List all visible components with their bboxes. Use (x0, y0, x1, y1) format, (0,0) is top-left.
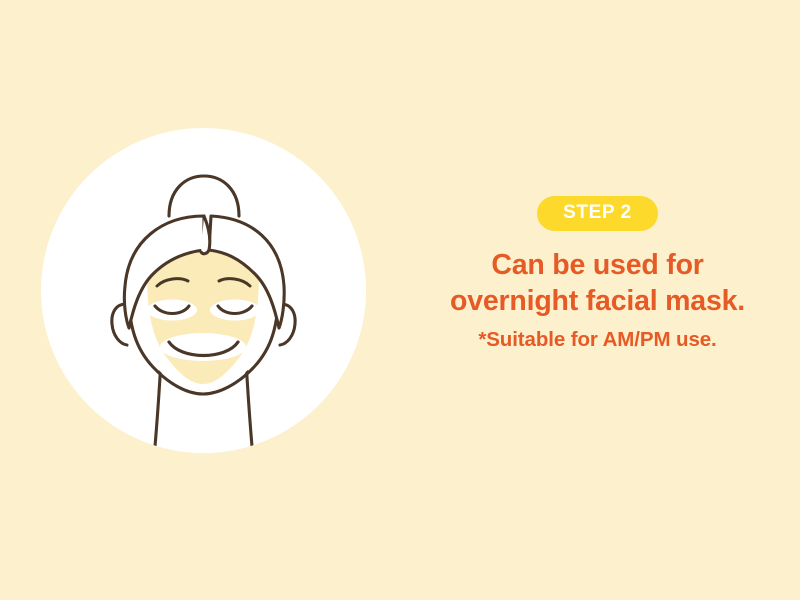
headline-line-1: Can be used for (400, 248, 795, 284)
text-panel: STEP 2 Can be used for overnight facial … (400, 196, 795, 352)
left-eye-halo (147, 300, 197, 321)
headline: Can be used for overnight facial mask. (400, 248, 795, 320)
step-badge: STEP 2 (537, 196, 658, 231)
subline: *Suitable for AM/PM use. (400, 328, 795, 353)
headline-line-2: overnight facial mask. (400, 284, 795, 320)
right-eye-halo (210, 300, 260, 321)
illustration-panel (0, 0, 420, 600)
step-card: STEP 2 Can be used for overnight facial … (0, 0, 800, 600)
woman-face-illustration (41, 128, 366, 453)
